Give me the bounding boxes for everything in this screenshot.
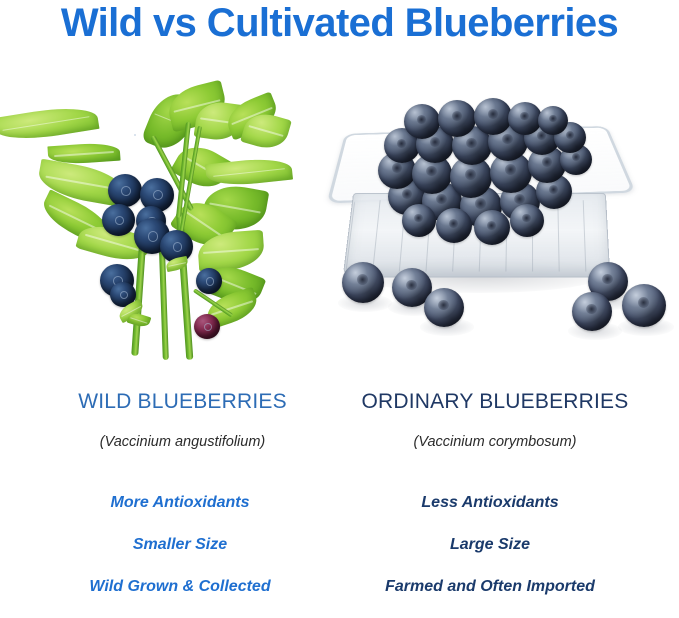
wild-berry-icon <box>102 204 135 236</box>
feature-item: Wild Grown & Collected <box>22 576 338 618</box>
wild-caption: WILD BLUEBERRIES <box>30 390 335 414</box>
blueberry-icon <box>474 98 512 135</box>
blueberry-icon <box>404 104 440 139</box>
blueberry-icon <box>508 102 542 135</box>
caption-row: WILD BLUEBERRIES ORDINARY BLUEBERRIES <box>0 390 679 414</box>
wild-plant-illustration <box>0 82 330 374</box>
ordinary-blueberry-image <box>330 82 679 374</box>
blueberry-comparison-infographic: Wild vs Cultivated Blueberries <box>0 0 679 598</box>
feature-item: Farmed and Often Imported <box>332 576 648 618</box>
loose-blueberry-icon <box>622 284 666 327</box>
wild-berry-icon <box>196 268 222 294</box>
feature-item: More Antioxidants <box>22 492 338 534</box>
blueberry-icon <box>474 210 510 245</box>
ordinary-scientific-name: (Vaccinium corymbosum) <box>335 434 655 450</box>
feature-item: Large Size <box>332 534 648 576</box>
ordinary-caption: ORDINARY BLUEBERRIES <box>335 390 655 414</box>
blueberry-icon <box>510 204 544 237</box>
feature-comparison: More Antioxidants Smaller Size Wild Grow… <box>0 492 679 598</box>
wild-blueberry-image <box>0 82 330 374</box>
punnet-illustration <box>330 82 679 374</box>
loose-blueberry-icon <box>572 292 612 331</box>
wild-red-berry-icon <box>194 314 220 339</box>
loose-blueberry-icon <box>424 288 464 327</box>
blueberry-icon <box>438 100 476 137</box>
feature-item: Less Antioxidants <box>332 492 648 534</box>
blueberry-icon <box>402 204 436 237</box>
wild-scientific-name: (Vaccinium angustifolium) <box>30 434 335 450</box>
ordinary-feature-list: Less Antioxidants Large Size Farmed and … <box>332 492 648 618</box>
scientific-name-row: (Vaccinium angustifolium) (Vaccinium cor… <box>0 434 679 454</box>
wild-berry-icon <box>108 174 142 207</box>
loose-blueberry-icon <box>342 262 384 303</box>
feature-item: Smaller Size <box>22 534 338 576</box>
blueberry-icon <box>538 106 568 135</box>
blueberry-icon <box>436 208 472 243</box>
page-title: Wild vs Cultivated Blueberries <box>0 1 679 45</box>
wild-feature-list: More Antioxidants Smaller Size Wild Grow… <box>22 492 338 618</box>
leaf-icon <box>0 102 99 145</box>
